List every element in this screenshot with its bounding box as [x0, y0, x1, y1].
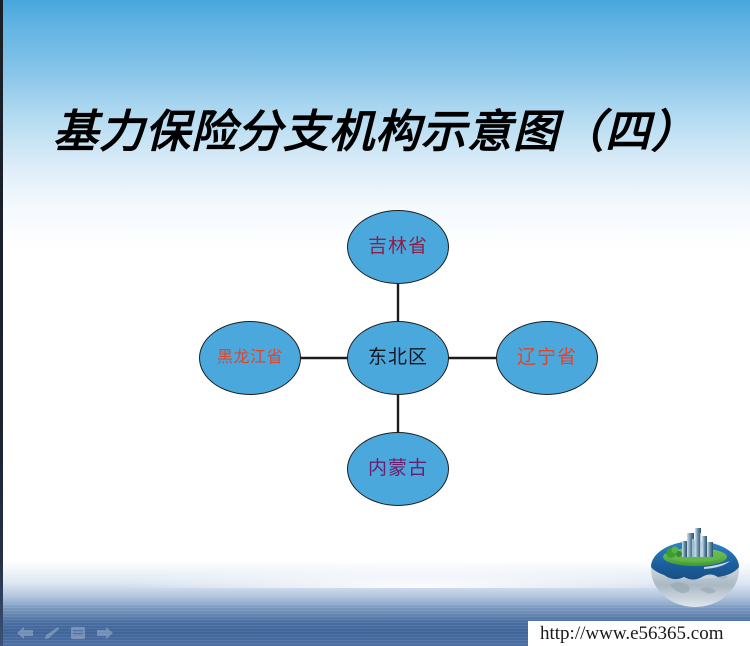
- left-edge-border: [0, 0, 3, 646]
- presentation-slide: 基力保险分支机构示意图（四） 吉林省 黑龙江省 东北区 辽宁省 内蒙古: [0, 0, 750, 646]
- node-heilongjiang[interactable]: 黑龙江省: [199, 321, 301, 395]
- page-title: 基力保险分支机构示意图（四）: [0, 103, 750, 161]
- node-inner-mongolia[interactable]: 内蒙古: [347, 432, 449, 506]
- source-url: http://www.e56365.com: [540, 622, 723, 646]
- node-northeast-region-label: 东北区: [368, 348, 428, 368]
- pen-icon[interactable]: [44, 626, 60, 640]
- slideshow-controls[interactable]: [16, 621, 126, 645]
- eco-city-globe-graphic: [648, 527, 742, 607]
- node-liaoning-label: 辽宁省: [517, 348, 577, 368]
- previous-slide-icon[interactable]: [16, 626, 34, 640]
- node-jilin-label: 吉林省: [368, 237, 428, 257]
- next-slide-icon[interactable]: [96, 626, 114, 640]
- node-heilongjiang-label: 黑龙江省: [217, 348, 283, 368]
- node-northeast-region[interactable]: 东北区: [347, 321, 449, 395]
- node-liaoning[interactable]: 辽宁省: [496, 321, 598, 395]
- node-inner-mongolia-label: 内蒙古: [368, 459, 428, 479]
- menu-icon[interactable]: [70, 626, 86, 640]
- node-jilin[interactable]: 吉林省: [347, 210, 449, 284]
